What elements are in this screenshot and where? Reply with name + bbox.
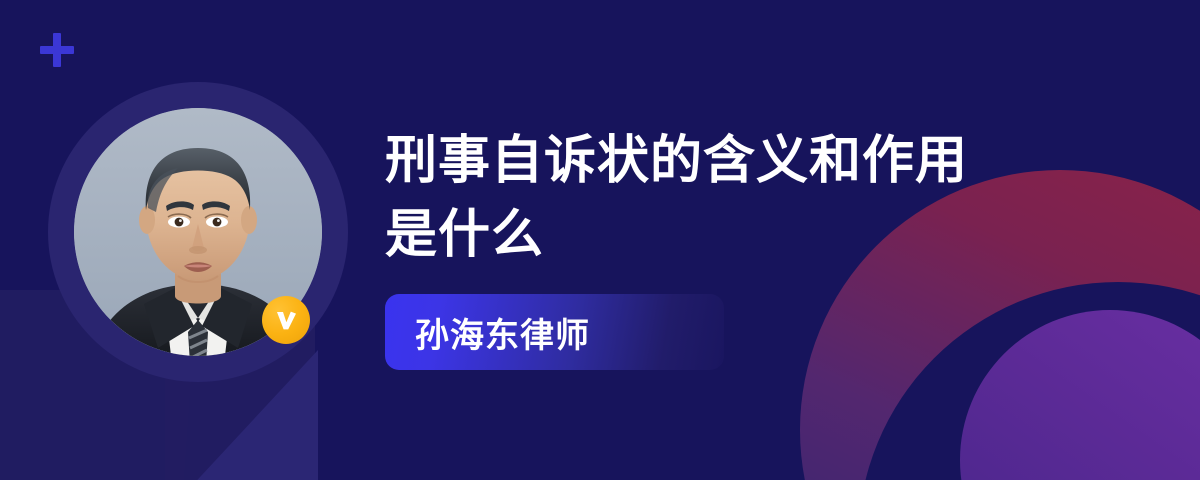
plus-icon: [40, 33, 74, 67]
lawyer-article-banner: 刑事自诉状的含义和作用 是什么 孙海东律师: [0, 0, 1200, 480]
avatar[interactable]: [48, 82, 348, 382]
verified-badge: [262, 296, 310, 344]
page-title: 刑事自诉状的含义和作用 是什么: [385, 124, 1145, 272]
author-badge[interactable]: 孙海东律师: [385, 294, 724, 370]
author-name: 孙海东律师: [415, 308, 590, 357]
content-column: 刑事自诉状的含义和作用 是什么 孙海东律师: [385, 124, 1145, 370]
